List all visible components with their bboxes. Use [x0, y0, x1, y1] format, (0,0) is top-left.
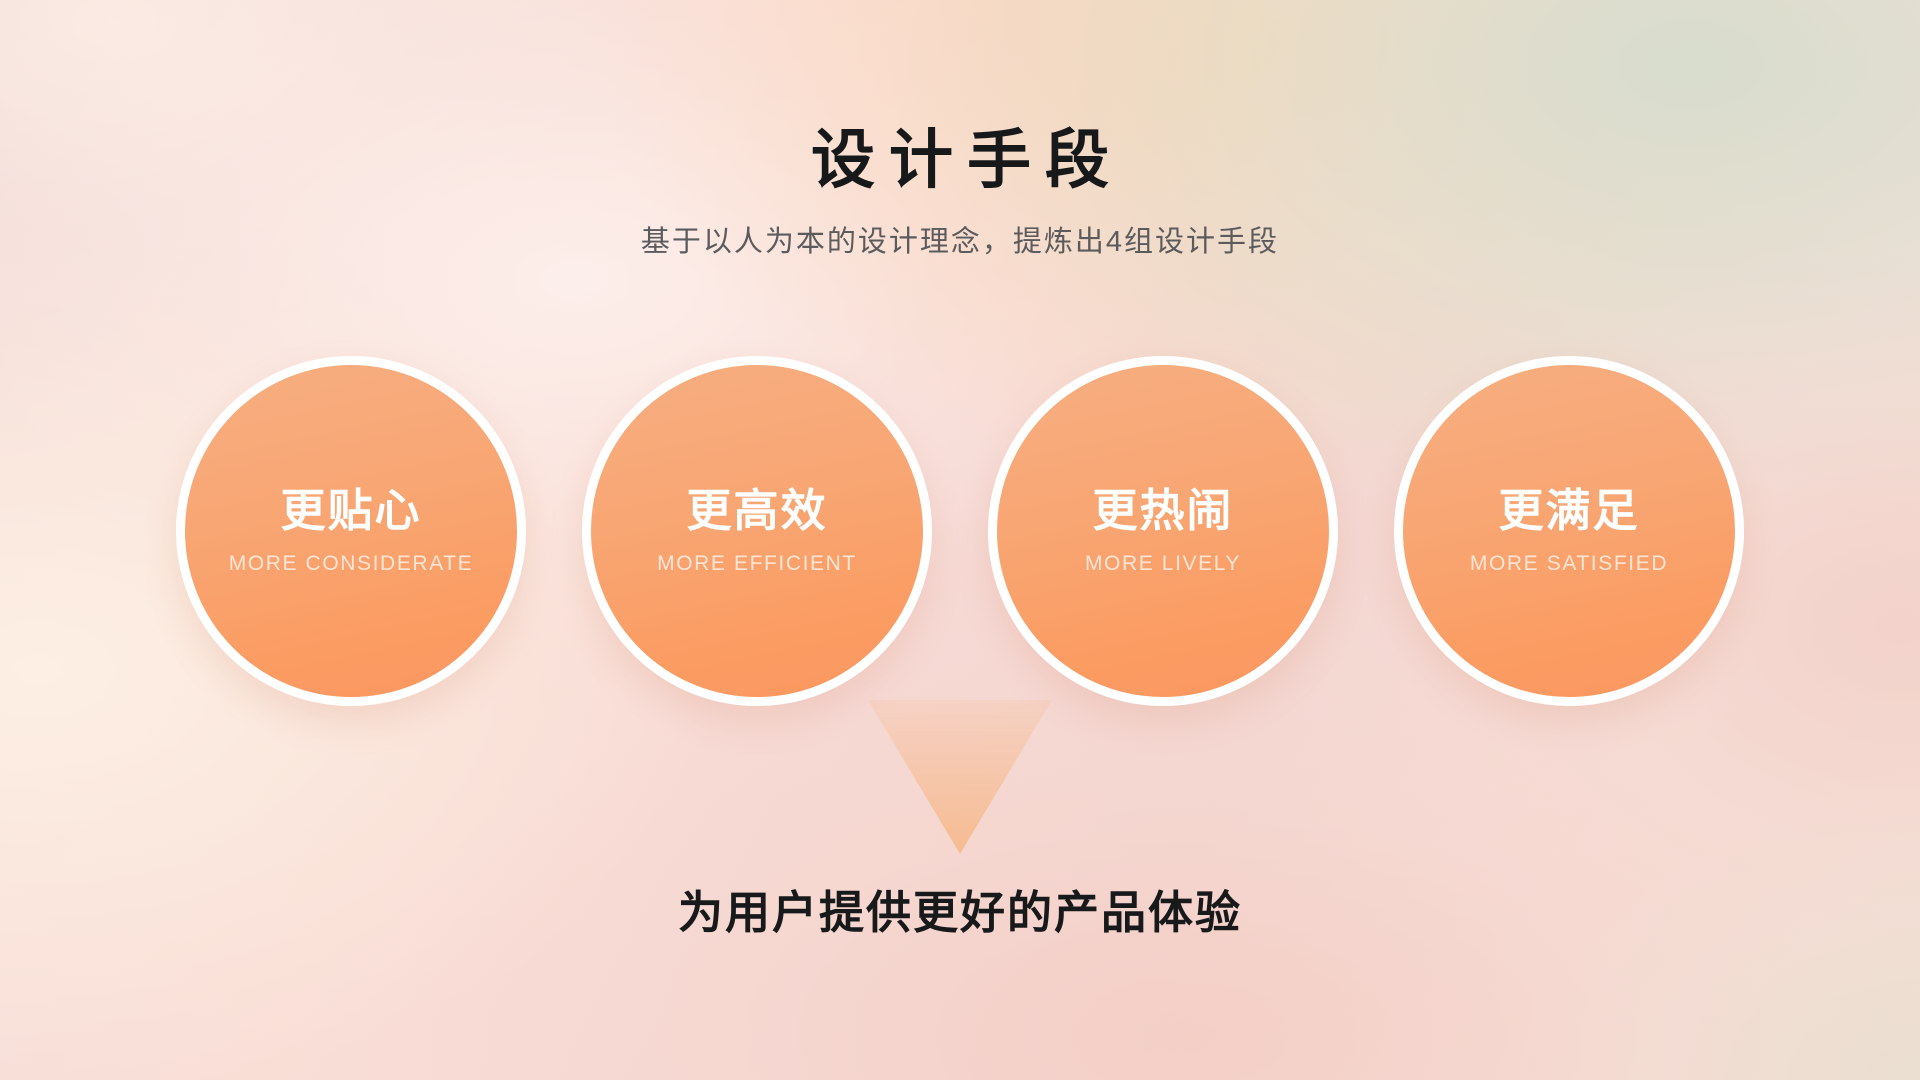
circle-label-cn: 更贴心 [280, 488, 421, 533]
circle-label-en: MORE CONSIDERATE [229, 553, 474, 574]
down-arrow-icon [868, 700, 1052, 854]
page-title: 设计手段 [0, 0, 1920, 192]
circle-label-cn: 更热闹 [1092, 488, 1233, 533]
circle-card-more-lively[interactable]: 更热闹 MORE LIVELY [988, 356, 1338, 706]
circle-label-en: MORE EFFICIENT [657, 553, 857, 574]
design-method-circle-row: 更贴心 MORE CONSIDERATE 更高效 MORE EFFICIENT … [0, 356, 1920, 716]
circle-label-cn: 更满足 [1498, 488, 1639, 533]
page-subtitle: 基于以人为本的设计理念，提炼出4组设计手段 [0, 192, 1920, 257]
circle-card-more-satisfied[interactable]: 更满足 MORE SATISFIED [1394, 356, 1744, 706]
footer-statement: 为用户提供更好的产品体验 [0, 890, 1920, 935]
circle-card-more-considerate[interactable]: 更贴心 MORE CONSIDERATE [176, 356, 526, 706]
circle-label-cn: 更高效 [686, 488, 827, 533]
circle-label-en: MORE SATISFIED [1470, 553, 1668, 574]
circle-label-en: MORE LIVELY [1085, 553, 1241, 574]
slide-canvas: 设计手段 基于以人为本的设计理念，提炼出4组设计手段 更贴心 MORE CONS… [0, 0, 1920, 1080]
footer: 为用户提供更好的产品体验 [0, 890, 1920, 935]
header: 设计手段 基于以人为本的设计理念，提炼出4组设计手段 [0, 0, 1920, 257]
circle-card-more-efficient[interactable]: 更高效 MORE EFFICIENT [582, 356, 932, 706]
arrow-container [0, 700, 1920, 870]
